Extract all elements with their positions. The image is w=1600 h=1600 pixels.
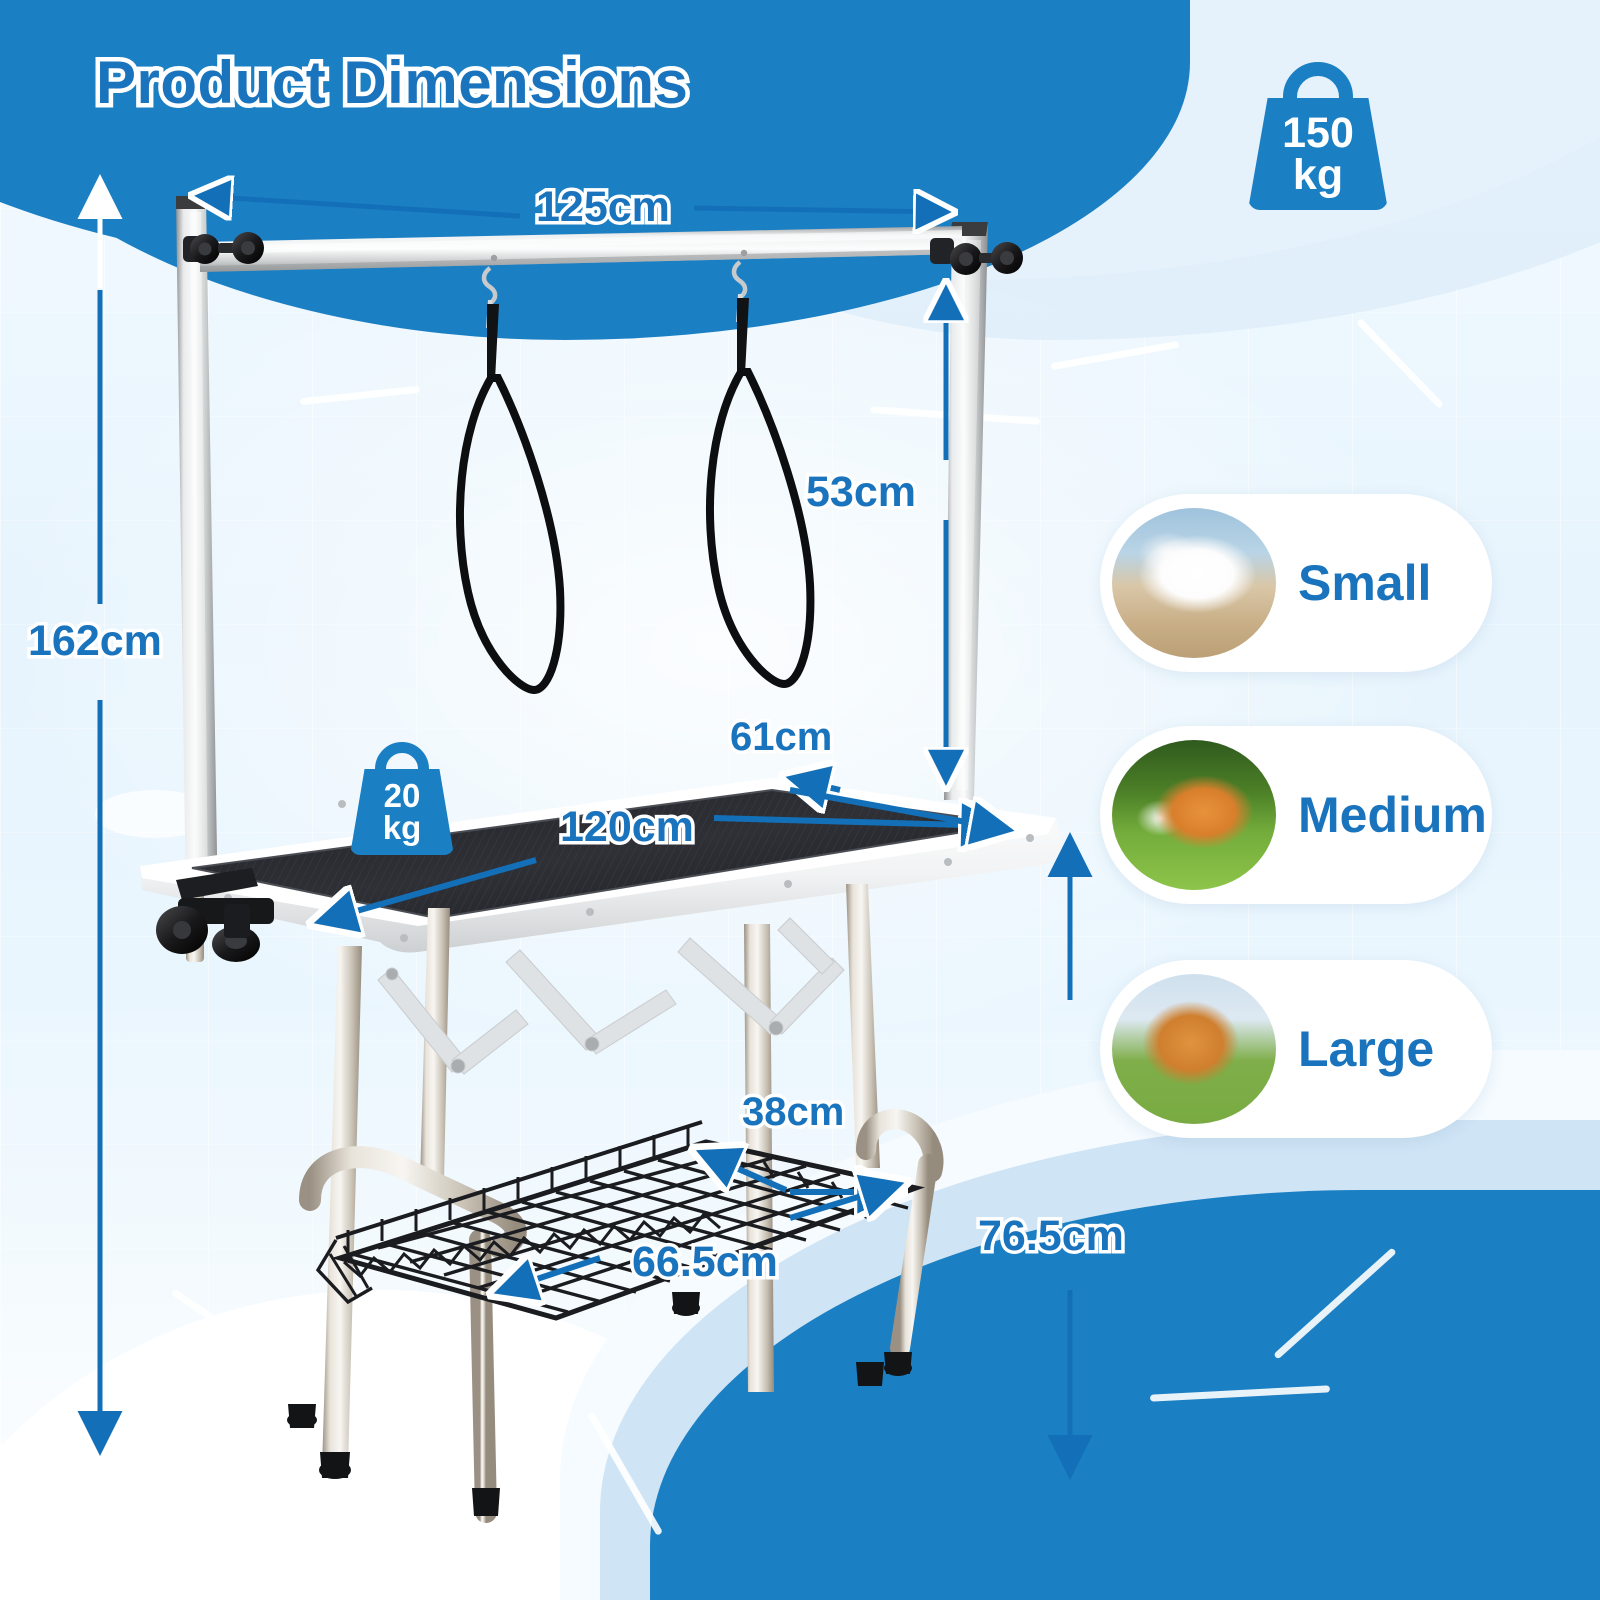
dimension-label-66.5cm: 66.5cm [632, 1238, 778, 1287]
tabletop-load-badge-body: 20 kg [350, 769, 454, 855]
dog-size-label-medium: Medium [1298, 786, 1487, 844]
dog-photo-small [1112, 508, 1276, 658]
dimension-label-76.5cm: 76.5cm [978, 1212, 1124, 1261]
dog-size-card-medium[interactable]: Medium [1100, 726, 1492, 904]
max-load-unit: kg [1293, 154, 1343, 196]
dog-size-card-large[interactable]: Large [1100, 960, 1492, 1138]
dimension-label-120cm: 120cm [560, 803, 694, 852]
tabletop-load-badge: 20 kg [350, 742, 454, 855]
tabletop-load-value: 20 [384, 780, 421, 812]
infographic-canvas: Product Dimensions 150 kg 20 kg 125cm 16… [0, 0, 1600, 1600]
dog-size-label-large: Large [1298, 1020, 1434, 1078]
dimension-label-61cm: 61cm [730, 715, 832, 760]
dog-photo-medium [1112, 740, 1276, 890]
dog-photo-large [1112, 974, 1276, 1124]
tabletop-load-unit: kg [383, 812, 422, 844]
dimension-label-38cm: 38cm [742, 1090, 844, 1135]
dimension-label-162cm: 162cm [28, 617, 162, 666]
dog-size-label-small: Small [1298, 554, 1431, 612]
dimension-label-125cm: 125cm [536, 183, 670, 232]
max-load-badge: 150 kg [1248, 62, 1388, 210]
page-title: Product Dimensions [96, 48, 688, 117]
dimension-label-53cm: 53cm [806, 468, 916, 517]
max-load-badge-body: 150 kg [1248, 98, 1388, 210]
arrow-38cm [700, 1152, 896, 1192]
dog-size-card-small[interactable]: Small [1100, 494, 1492, 672]
max-load-value: 150 [1282, 112, 1354, 154]
